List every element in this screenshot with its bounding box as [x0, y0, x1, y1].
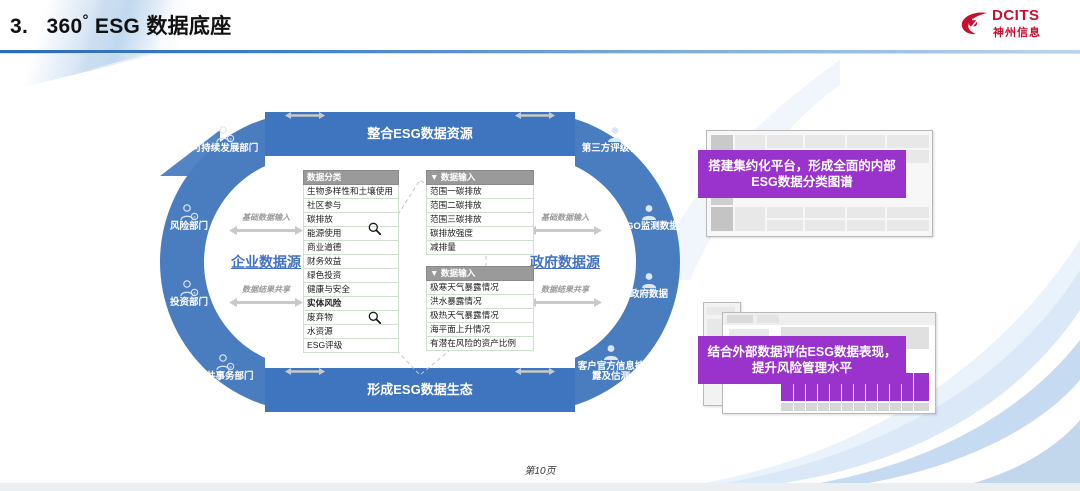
person-badge-icon: $ — [215, 126, 235, 143]
table-header-cell: 数据分类 — [304, 171, 399, 185]
table-cell: 洪水暴露情况 — [427, 295, 534, 309]
table-row[interactable]: 范围二碳排放 — [427, 199, 534, 213]
table-row[interactable]: 财务效益 — [304, 255, 399, 269]
table-row[interactable]: 洪水暴露情况 — [427, 295, 534, 309]
flow-double-arrow-icon — [528, 226, 602, 235]
person-icon — [639, 272, 659, 289]
person-badge-icon: $ — [179, 280, 199, 297]
actor-third-party-rating[interactable]: 第三方评级机构 — [578, 126, 652, 154]
person-icon — [639, 204, 659, 221]
table-cell: ESG评级 — [304, 339, 399, 353]
flow-label: 基础数据输入 — [221, 212, 311, 223]
logo-wordmark-cn: 神州信息 — [993, 24, 1041, 40]
data-category-table-body: 数据分类 生物多样性和土壤使用 社区参与 碳排放 能源使用 商业道德 财务效益 … — [304, 171, 399, 353]
table-header-label: 数据输入 — [441, 172, 475, 182]
table-cell: 极热天气暴露情况 — [427, 309, 534, 323]
actor-government-data[interactable]: 政府数据 — [612, 272, 686, 300]
table-row[interactable]: 商业道德 — [304, 241, 399, 255]
brand-logo: DCITS 神州信息 — [960, 7, 1072, 41]
callout-banner-2: 结合外部数据评估ESG数据表现，提升风险管理水平 — [698, 336, 906, 384]
table-cell: 废弃物 — [304, 311, 399, 325]
person-badge-icon: $ — [179, 204, 199, 221]
table-cell: 海平面上升情况 — [427, 323, 534, 337]
person-icon — [601, 344, 621, 361]
slide-header: 3. 360° ESG 数据底座 DCITS 神州信息 — [0, 0, 1080, 52]
table-row[interactable]: ESG评级 — [304, 339, 399, 353]
flow-double-arrow-icon — [229, 226, 303, 235]
page-title-main: 360 — [47, 15, 83, 38]
top-right-double-arrow-icon — [515, 112, 555, 119]
esg-data-foundation-diagram: 整合ESG数据资源 形成ESG数据生态 $ 可持续发展部门 — [160, 112, 680, 412]
table-cell: 碳排放 — [304, 213, 399, 227]
table-cell: 碳排放强度 — [427, 227, 534, 241]
actor-label: 政府数据 — [612, 290, 686, 300]
caret-down-icon: ▼ — [430, 268, 439, 278]
table-row[interactable]: 海平面上升情况 — [427, 323, 534, 337]
table-row[interactable]: 极寒天气暴露情况 — [427, 281, 534, 295]
enterprise-source-top-flow: 基础数据输入 — [221, 212, 311, 243]
table-row[interactable]: 生物多样性和土壤使用 — [304, 185, 399, 199]
table-cell: 实体风险 — [304, 297, 399, 311]
actor-client-official-disclosure[interactable]: 客户官方信息披露及估测 — [574, 344, 648, 382]
table-row[interactable]: 废弃物 — [304, 311, 399, 325]
person-icon — [605, 126, 625, 143]
table-cell: 社区参与 — [304, 199, 399, 213]
table-cell: 极寒天气暴露情况 — [427, 281, 534, 295]
table-cell: 减排量 — [427, 241, 534, 255]
actor-risk-dept[interactable]: $ 风险部门 — [152, 204, 226, 232]
data-input-table-physical-risk-body: ▼ 数据输入 极寒天气暴露情况 洪水暴露情况 极热天气暴露情况 海平面上升情况 … — [427, 267, 534, 351]
data-category-table[interactable]: 数据分类 生物多样性和土壤使用 社区参与 碳排放 能源使用 商业道德 财务效益 … — [303, 170, 399, 353]
flow-double-arrow-icon — [229, 298, 303, 307]
table-row[interactable]: 极热天气暴露情况 — [427, 309, 534, 323]
table-cell: 商业道德 — [304, 241, 399, 255]
table-row[interactable]: 范围三碳排放 — [427, 213, 534, 227]
table-cell: 绿色投资 — [304, 269, 399, 283]
table-row[interactable]: 绿色投资 — [304, 269, 399, 283]
table-row[interactable]: 水资源 — [304, 325, 399, 339]
table-row[interactable]: 减排量 — [427, 241, 534, 255]
table-row[interactable]: 能源使用 — [304, 227, 399, 241]
actor-sustainability-dept[interactable]: $ 可持续发展部门 — [188, 126, 262, 154]
search-magnifier-icon-physical-risk[interactable] — [368, 311, 381, 324]
actor-public-affairs-dept[interactable]: $ 公共事务部门 — [188, 354, 262, 382]
table-cell: 健康与安全 — [304, 283, 399, 297]
callout-banner-1: 搭建集约化平台，形成全面的内部ESG数据分类图谱 — [698, 150, 906, 198]
table-cell: 范围三碳排放 — [427, 213, 534, 227]
table-header-cell: ▼ 数据输入 — [427, 267, 534, 281]
callout-text: 搭建集约化平台，形成全面的内部ESG数据分类图谱 — [704, 158, 900, 190]
table-row[interactable]: 社区参与 — [304, 199, 399, 213]
top-left-double-arrow-icon — [285, 112, 325, 119]
table-cell: 能源使用 — [304, 227, 399, 241]
table-header-row: ▼ 数据输入 — [427, 267, 534, 281]
actor-label: NGO监测数据 — [612, 222, 686, 232]
search-magnifier-icon-carbon[interactable] — [368, 222, 381, 235]
table-row[interactable]: 健康与安全 — [304, 283, 399, 297]
actor-label: 第三方评级机构 — [578, 144, 652, 154]
page-title-rest: ESG 数据底座 — [89, 15, 232, 38]
page-title-number: 3. — [10, 15, 28, 38]
callout-text: 结合外部数据评估ESG数据表现，提升风险管理水平 — [704, 344, 900, 376]
table-cell: 水资源 — [304, 325, 399, 339]
table-row[interactable]: 碳排放 — [304, 213, 399, 227]
page-number: 第10页 — [0, 462, 1080, 477]
table-header-row: 数据分类 — [304, 171, 399, 185]
bottom-left-double-arrow-icon — [285, 368, 325, 375]
table-header-label: 数据输入 — [441, 268, 475, 278]
flow-double-arrow-icon — [528, 298, 602, 307]
bottom-right-double-arrow-icon — [515, 368, 555, 375]
table-row[interactable]: 范围一碳排放 — [427, 185, 534, 199]
actor-label: 投资部门 — [152, 298, 226, 308]
logo-wordmark: DCITS — [992, 7, 1040, 24]
actor-investment-dept[interactable]: $ 投资部门 — [152, 280, 226, 308]
flow-label: 数据结果共享 — [221, 284, 311, 295]
actor-label: 公共事务部门 — [188, 372, 262, 382]
data-input-table-carbon-body: ▼ 数据输入 范围一碳排放 范围二碳排放 范围三碳排放 碳排放强度 减排量 — [427, 171, 534, 255]
actor-ngo-monitoring[interactable]: NGO监测数据 — [612, 204, 686, 232]
table-header-row: ▼ 数据输入 — [427, 171, 534, 185]
dcits-swoosh-icon — [960, 10, 990, 36]
actor-label: 客户官方信息披露及估测 — [574, 362, 648, 382]
header-divider-light — [0, 53, 1080, 54]
data-input-table-physical-risk[interactable]: ▼ 数据输入 极寒天气暴露情况 洪水暴露情况 极热天气暴露情况 海平面上升情况 … — [426, 266, 534, 351]
table-header-cell: ▼ 数据输入 — [427, 171, 534, 185]
actor-label: 风险部门 — [152, 222, 226, 232]
person-badge-icon: $ — [215, 354, 235, 371]
table-cell: 财务效益 — [304, 255, 399, 269]
table-cell: 生物多样性和土壤使用 — [304, 185, 399, 199]
page-title: 3. 360° ESG 数据底座 — [10, 10, 232, 40]
table-row[interactable]: 碳排放强度 — [427, 227, 534, 241]
table-row[interactable]: 有潜在风险的资产比例 — [427, 337, 534, 351]
enterprise-source-bottom-flow: 数据结果共享 — [221, 284, 311, 315]
table-cell: 有潜在风险的资产比例 — [427, 337, 534, 351]
table-row[interactable]: 实体风险 — [304, 297, 399, 311]
slide: 3. 360° ESG 数据底座 DCITS 神州信息 — [0, 0, 1080, 491]
table-cell: 范围一碳排放 — [427, 185, 534, 199]
caret-down-icon: ▼ — [430, 172, 439, 182]
data-input-table-carbon[interactable]: ▼ 数据输入 范围一碳排放 范围二碳排放 范围三碳排放 碳排放强度 减排量 — [426, 170, 534, 255]
table-cell: 范围二碳排放 — [427, 199, 534, 213]
actor-label: 可持续发展部门 — [188, 144, 262, 154]
bottom-strip — [0, 483, 1080, 491]
